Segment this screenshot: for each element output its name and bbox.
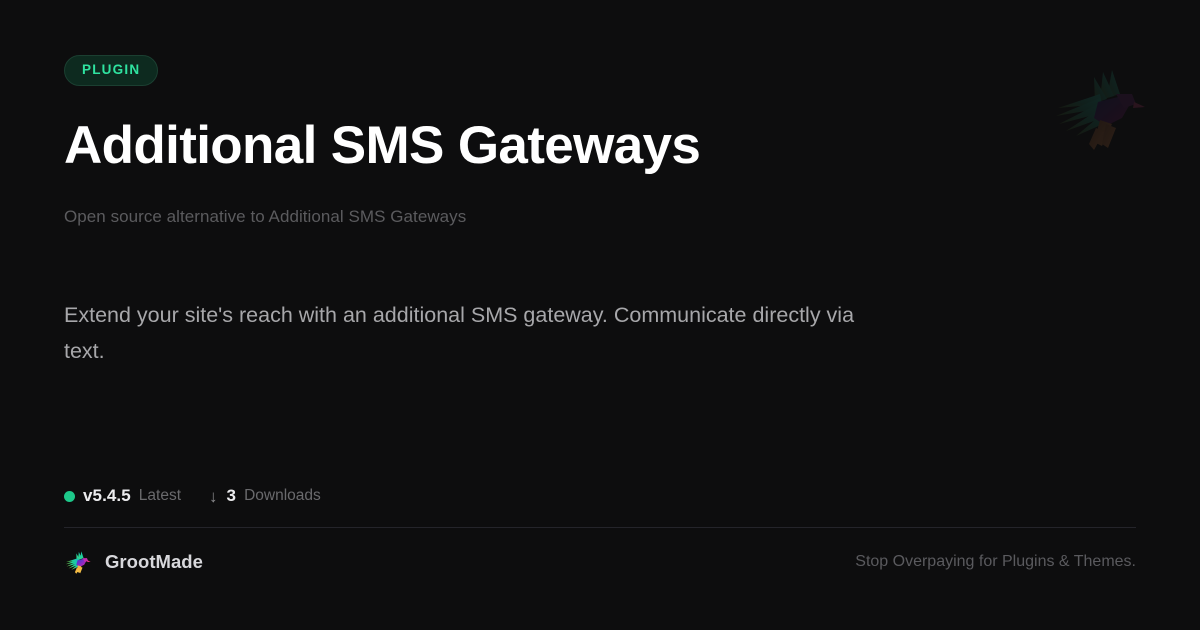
status-dot-icon (64, 491, 75, 502)
downloads-label: Downloads (244, 487, 321, 505)
badge-row: PLUGIN (64, 0, 1136, 86)
brand: GrootMade (64, 548, 203, 576)
downloads-count: 3 (227, 486, 237, 506)
download-arrow-icon: ↓ (209, 488, 218, 505)
meta-row: v5.4.5 Latest ↓ 3 Downloads (64, 486, 321, 506)
share-card: PLUGIN Additional SMS Gateways Open sour… (0, 0, 1200, 630)
version-value: v5.4.5 (83, 486, 131, 506)
hummingbird-icon (64, 548, 92, 576)
plugin-description: Extend your site's reach with an additio… (64, 297, 894, 370)
footer-divider (64, 527, 1136, 528)
version-group: v5.4.5 Latest (64, 486, 181, 506)
footer: GrootMade Stop Overpaying for Plugins & … (64, 545, 1136, 579)
page-title: Additional SMS Gateways (64, 117, 1136, 174)
downloads-group: ↓ 3 Downloads (209, 486, 321, 506)
footer-tagline: Stop Overpaying for Plugins & Themes. (855, 553, 1136, 571)
version-label: Latest (139, 487, 181, 505)
brand-name: GrootMade (105, 551, 203, 573)
status-badge: PLUGIN (64, 55, 158, 86)
page-subtitle: Open source alternative to Additional SM… (64, 207, 1136, 227)
